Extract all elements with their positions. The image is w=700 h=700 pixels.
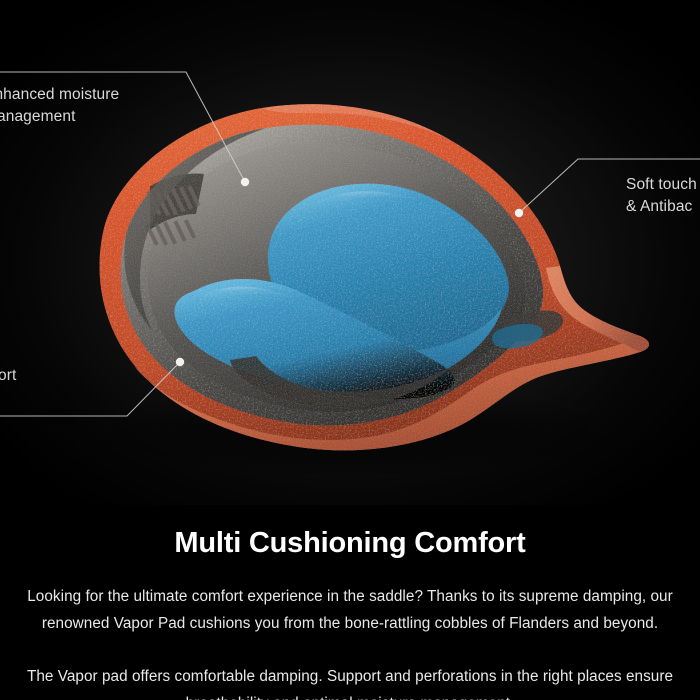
callout-label-comfort-line1: comfort [0,365,16,387]
product-feature-page: Enhanced moisture management Soft touch … [0,0,700,700]
callout-label-soft-touch-line2: & Antibac [626,196,697,218]
hero-image-panel: Enhanced moisture management Soft touch … [0,0,700,505]
anchor-dot-soft-touch [515,209,523,217]
anchor-dot-comfort [176,358,184,366]
callout-label-moisture-line1: Enhanced moisture [0,84,119,106]
callout-label-moisture-line2: management [0,106,119,128]
saddle-pad-cutaway-illustration [0,0,700,505]
page-title: Multi Cushioning Comfort [0,505,700,561]
body-paragraph-1: Looking for the ultimate comfort experie… [0,583,700,637]
callout-label-soft-touch: Soft touch & Antibac [626,174,697,218]
body-paragraph-2: The Vapor pad offers comfortable damping… [0,663,700,700]
product-copy-block: Multi Cushioning Comfort Looking for the… [0,505,700,700]
anchor-dot-moisture [241,178,249,186]
callout-label-comfort: comfort [0,365,16,387]
callout-label-soft-touch-line1: Soft touch [626,174,697,196]
callout-label-moisture: Enhanced moisture management [0,84,119,128]
